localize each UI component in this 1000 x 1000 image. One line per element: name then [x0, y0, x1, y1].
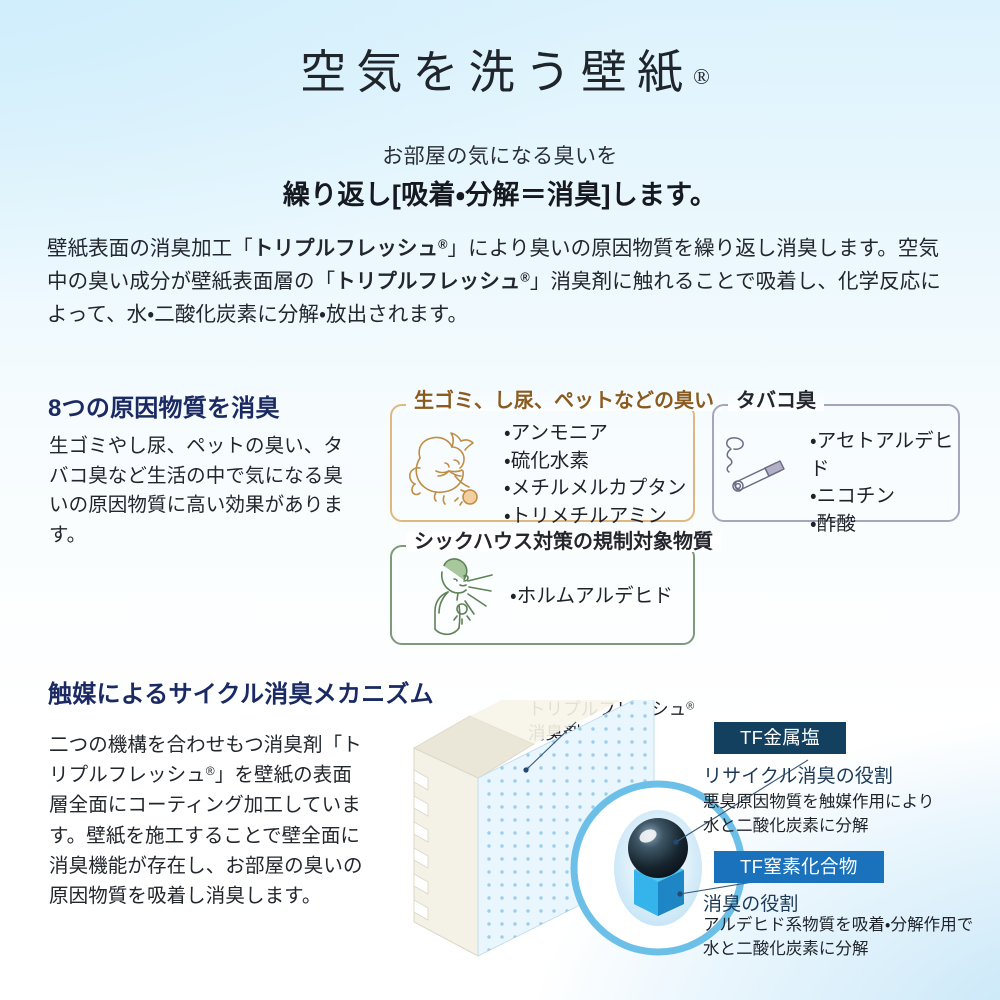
- list-item: アセトアルデヒド: [810, 428, 958, 483]
- subtitle-block: お部屋の気になる臭いを 繰り返し[吸着・分解＝消臭]します。: [0, 142, 1000, 216]
- role-desc-nitrogen: アルデヒド系物質を吸着・分解作用で 水と二酸化炭素に分解: [703, 914, 973, 962]
- subtitle-line-2: 繰り返し[吸着・分解＝消臭]します。: [0, 176, 1000, 215]
- mechanism-body-part-1: 二つの機構を合わせもつ消臭剤「: [49, 734, 342, 756]
- odor-box-garbage-items: アンモニア 硫化水素 メチルメルカプタン トリメチルアミン: [504, 420, 687, 531]
- subtitle-line-1: お部屋の気になる臭いを: [0, 142, 1000, 171]
- lead-paragraph: 壁紙表面の消臭加工「トリプルフレッシュ®」により臭いの原因物質を繰り返し消臭しま…: [47, 232, 957, 332]
- page-title: 空気を洗う壁紙®: [0, 48, 1000, 99]
- list-item: 硫化水素: [504, 448, 687, 476]
- list-item: ニコチン: [810, 483, 958, 511]
- odor-box-garbage-legend: 生ゴミ、し尿、ペットなどの臭い: [406, 391, 722, 411]
- odor-section-body: 生ゴミやし尿、ペットの臭い、タバコ臭など生活の中で気になる臭いの原因物質に高い効…: [49, 432, 349, 551]
- lead-brand-2-mark: ®: [520, 270, 529, 285]
- mechanism-section-heading: 触媒によるサイクル消臭メカニズム: [48, 674, 434, 709]
- registered-trademark-icon: ®: [693, 64, 710, 89]
- list-item: メチルメルカプタン: [504, 475, 687, 503]
- list-item: トリメチルアミン: [504, 503, 687, 531]
- odor-box-tobacco-legend: タバコ臭: [728, 391, 824, 411]
- list-item: 酢酸: [810, 511, 958, 539]
- infographic-page: 空気を洗う壁紙® お部屋の気になる臭いを 繰り返し[吸着・分解＝消臭]します。 …: [0, 0, 1000, 1000]
- odor-box-sickhouse-legend: シックハウス対策の規制対象物質: [406, 532, 721, 552]
- role-desc-metal-salt: 悪臭原因物質を触媒作用により 水と二酸化炭素に分解: [703, 791, 934, 839]
- cat-icon: [398, 424, 490, 506]
- mechanism-section-body: 二つの機構を合わせもつ消臭剤「トリプルフレッシュ®」を壁紙の表面層全面にコーティ…: [49, 730, 369, 911]
- list-item: ホルムアルデヒド: [510, 583, 673, 611]
- role-title-nitrogen: 消臭の役割: [703, 889, 798, 916]
- main-title-label: 空気を洗う壁紙: [300, 47, 693, 98]
- mechanism-body-brand-mark: ®: [206, 764, 215, 778]
- badge-tf-metal-salt: TF金属塩: [714, 722, 846, 754]
- odor-section-heading: 8つの原因物質を消臭: [48, 388, 280, 423]
- lead-brand-1: トリプルフレッシュ: [253, 237, 438, 260]
- coughing-person-icon: [418, 552, 514, 638]
- role-desc-nitro-line-2: 水と二酸化炭素に分解: [703, 940, 869, 958]
- odor-box-sickhouse-items: ホルムアルデヒド: [510, 583, 673, 611]
- list-item: アンモニア: [504, 420, 687, 448]
- role-title-metal-salt: リサイクル消臭の役割: [703, 761, 893, 788]
- role-desc-metal-line-1: 悪臭原因物質を触媒作用により: [703, 793, 934, 811]
- odor-box-tobacco-items: アセトアルデヒド ニコチン 酢酸: [810, 428, 958, 539]
- lead-brand-2: トリプルフレッシュ: [335, 270, 520, 293]
- role-desc-metal-line-2: 水と二酸化炭素に分解: [703, 817, 869, 835]
- badge-tf-nitrogen-compound: TF窒素化合物: [714, 851, 884, 883]
- tf-metal-salt-sphere-icon: [628, 818, 688, 878]
- role-desc-nitro-line-1: アルデヒド系物質を吸着・分解作用で: [703, 916, 973, 934]
- lead-brand-1-mark: ®: [438, 237, 447, 252]
- lead-part-1: 壁紙表面の消臭加工「: [47, 237, 253, 260]
- main-title-text: 空気を洗う壁紙®: [0, 48, 1000, 99]
- cigarette-icon: [718, 430, 798, 502]
